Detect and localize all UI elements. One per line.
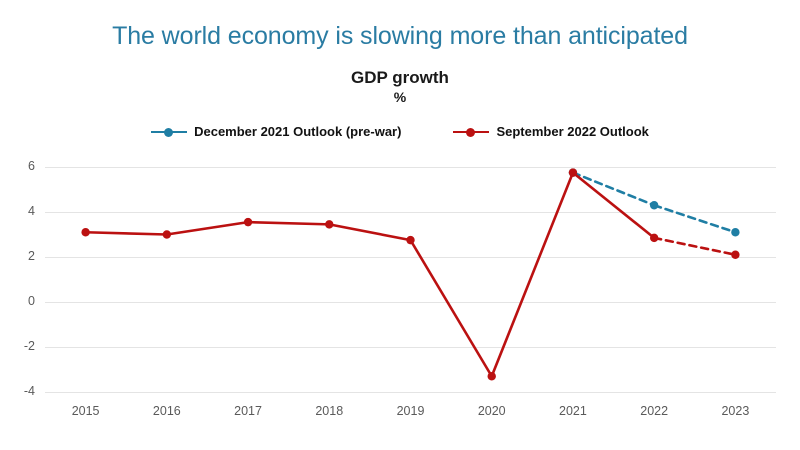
series-line-segment xyxy=(86,232,167,234)
chart-plot-area: 6420-2-4 2015201620172018201920202021202… xyxy=(0,0,800,450)
series-line-segment xyxy=(411,240,492,376)
series-line-segment xyxy=(248,222,329,224)
series-line-segment xyxy=(654,205,735,232)
data-point-marker[interactable] xyxy=(244,218,252,226)
data-point-marker[interactable] xyxy=(569,168,577,176)
data-point-marker[interactable] xyxy=(650,234,658,242)
series-line-segment xyxy=(329,224,410,240)
slide-canvas: The world economy is slowing more than a… xyxy=(0,0,800,450)
data-point-marker[interactable] xyxy=(731,228,739,236)
series-lines-svg xyxy=(0,0,800,450)
data-point-marker[interactable] xyxy=(650,201,658,209)
series-line-segment xyxy=(492,173,573,377)
data-point-marker[interactable] xyxy=(325,220,333,228)
data-point-marker[interactable] xyxy=(731,251,739,259)
series-line-segment xyxy=(573,173,654,238)
series-line-segment xyxy=(573,173,654,206)
series-line-segment xyxy=(167,222,248,234)
data-point-marker[interactable] xyxy=(163,230,171,238)
series-line-segment xyxy=(654,238,735,255)
data-point-marker[interactable] xyxy=(406,236,414,244)
data-point-marker[interactable] xyxy=(488,372,496,380)
data-point-marker[interactable] xyxy=(81,228,89,236)
